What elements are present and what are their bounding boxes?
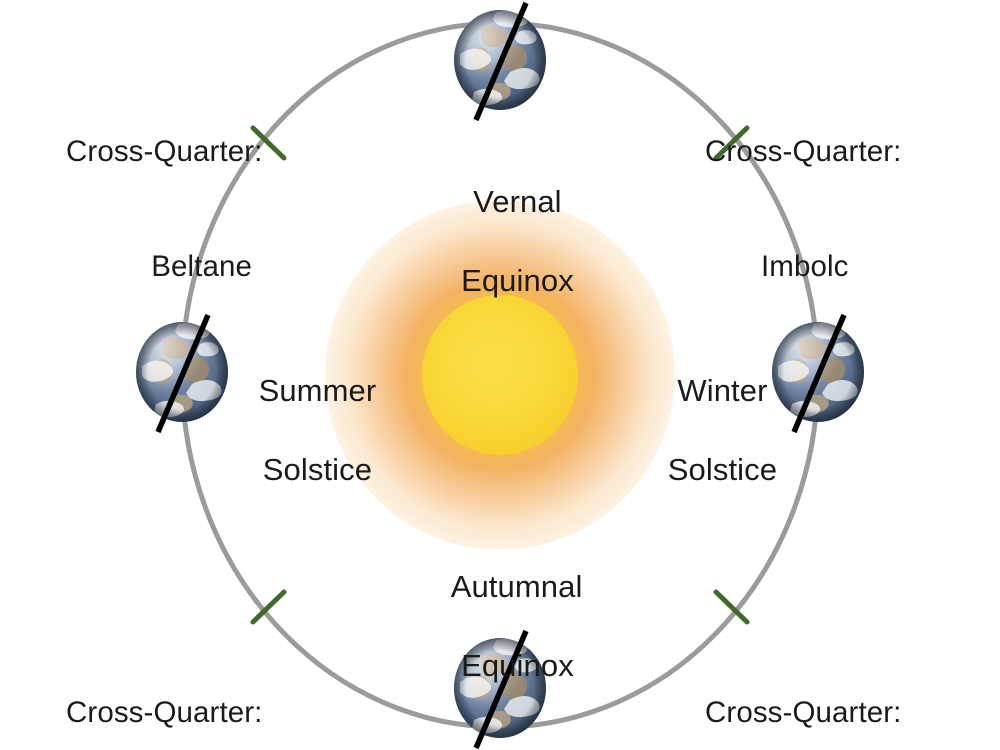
- label-cross-quarter-lammas: Cross-Quarter: Lammas: [66, 617, 266, 750]
- label-cross-quarter-imbolc: Cross-Quarter: Imbolc: [705, 56, 915, 363]
- label-summer-solstice-line2: Solstice: [263, 452, 372, 487]
- label-winter-solstice-line1: Winter: [677, 373, 767, 408]
- label-beltane-line2: Beltane: [66, 248, 252, 286]
- label-cross-quarter-samhain: Cross-Quarter: Samhain: [705, 617, 915, 750]
- label-samhain-line1: Cross-Quarter:: [705, 694, 915, 732]
- seasons-orbit-diagram: Vernal Equinox Winter Solstice Autumnal …: [0, 0, 1000, 750]
- label-beltane-line1: Cross-Quarter:: [66, 133, 266, 171]
- label-vernal-equinox: Vernal Equinox: [380, 143, 620, 340]
- label-lammas-line1: Cross-Quarter:: [66, 694, 266, 732]
- label-vernal-equinox-line2: Equinox: [461, 263, 574, 298]
- label-summer-solstice-line1: Summer: [259, 373, 377, 408]
- label-winter-solstice-line2: Solstice: [668, 452, 777, 487]
- earth-axis-tilt-line: [452, 8, 548, 112]
- label-cross-quarter-beltane: Cross-Quarter: Beltane: [66, 56, 266, 363]
- label-vernal-equinox-line1: Vernal: [473, 184, 562, 219]
- label-imbolc-line1: Cross-Quarter:: [705, 133, 915, 171]
- label-autumnal-equinox-line1: Autumnal: [451, 569, 583, 604]
- earth-globe-vernal-equinox[interactable]: [452, 8, 548, 112]
- label-imbolc-line2: Imbolc: [705, 248, 915, 286]
- label-autumnal-equinox: Autumnal Equinox: [380, 528, 620, 725]
- label-autumnal-equinox-line2: Equinox: [461, 648, 574, 683]
